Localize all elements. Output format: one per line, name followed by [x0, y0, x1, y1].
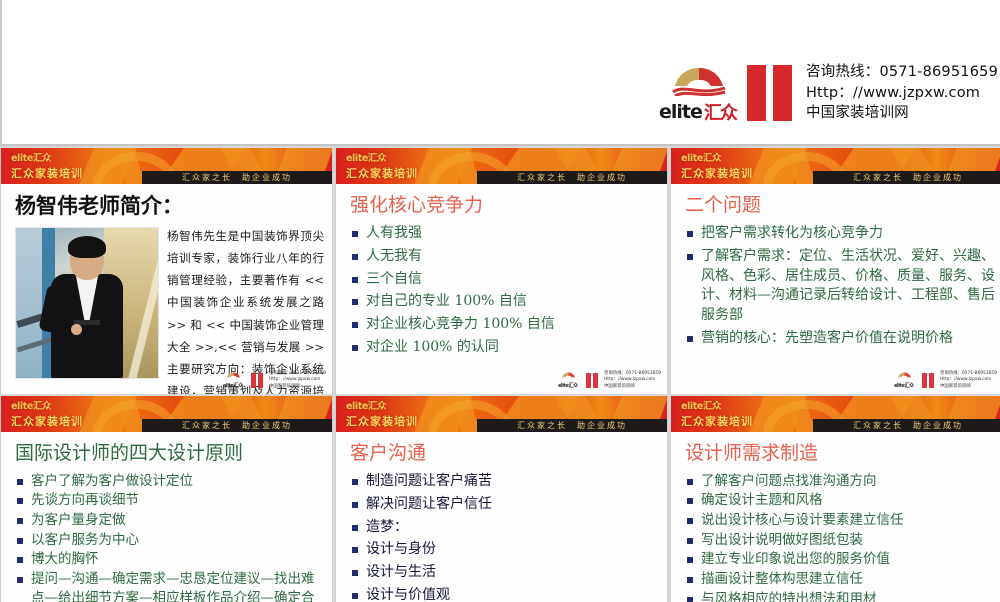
- bullet-item: 对企业 100% 的认同: [350, 338, 659, 358]
- footer-website: Http：//www.jzpxw.com: [940, 377, 997, 383]
- fan-wave-icon: [671, 66, 727, 96]
- elite-wordmark: elite 汇众: [659, 101, 743, 123]
- footer-fan-wave-icon: [226, 372, 241, 380]
- bullet-item: 了解客户问题点找准沟通方向: [685, 472, 995, 491]
- teacher-bio-text: 杨智伟先生是中国装饰界顶尖培训专家，装饰行业八年的行销管理经验，主要著作有 <<…: [167, 223, 324, 394]
- banner-slogan-left: 汇众家之长: [182, 172, 232, 183]
- bullet-item: 把客户需求转化为核心竞争力: [685, 224, 995, 244]
- red-bar-1: [747, 65, 766, 121]
- bullet-item: 了解客户需求：定位、生活状况、爱好、兴趣、风格、色彩、居住成员、价格、质量、服务…: [685, 247, 995, 327]
- banner-slogan-right: 助企业成功: [577, 172, 627, 183]
- contact-org: 中国家装培训网: [806, 103, 998, 124]
- slide-banner: elite汇众 汇众家装培训 汇众家之长 助企业成功: [671, 396, 1000, 432]
- banner-slogan: 汇众家之长 助企业成功: [813, 171, 1000, 184]
- banner-slogan-right: 助企业成功: [577, 420, 627, 431]
- bullet-item: 与风格相应的特出想法和用材: [685, 590, 995, 602]
- footer-wordmark: elite汇众: [558, 382, 578, 389]
- slide-body: 二个问题 把客户需求转化为核心竞争力 了解客户需求：定位、生活状况、爱好、兴趣、…: [671, 184, 1000, 394]
- bullet-item: 描画设计整体构思建立信任: [685, 570, 995, 589]
- footer-contact: 咨询热线：0571-86951659 Http：//www.jzpxw.com …: [940, 371, 997, 390]
- slide-title: 二个问题: [685, 194, 995, 217]
- banner-logo-cn: 汇众家装培训: [346, 413, 418, 429]
- banner-logo: elite汇众 汇众家装培训: [681, 398, 753, 429]
- bullet-item: 建立专业印象说出您的服务价值: [685, 550, 995, 569]
- footer-red-bars: [586, 373, 598, 388]
- footer-fan-wave-icon: [897, 372, 912, 380]
- contact-hotline: 咨询热线：0571-86951659: [806, 62, 998, 83]
- banner-slogan-left: 汇众家之长: [182, 420, 232, 431]
- teacher-portrait-photo: [15, 227, 159, 379]
- footer-fan-wave-icon: [561, 372, 576, 380]
- slide-footer-logo: elite汇众 咨询热线：0571-86951659 Http：//www.jz…: [894, 371, 997, 390]
- bullet-list: 了解客户问题点找准沟通方向 确定设计主题和风格 说出设计核心与设计要素建立信任 …: [685, 472, 995, 602]
- bullet-item: 三个自信: [350, 270, 659, 290]
- banner-logo-cn: 汇众家装培训: [11, 165, 83, 181]
- slide-banner: elite汇众 汇众家装培训 汇众家之长 助企业成功: [336, 148, 667, 184]
- contact-info: 咨询热线：0571-86951659 Http：//www.jzpxw.com …: [806, 62, 998, 124]
- slide-body: 杨智伟老师简介： 杨智伟先生是中国装饰界顶尖培训专家，装饰行业八年的行销管理经验…: [1, 184, 332, 394]
- footer-elite-icon: elite汇众: [558, 372, 580, 388]
- slide-banner: elite汇众 汇众家装培训 汇众家之长 助企业成功: [671, 148, 1000, 184]
- bullet-item: 人无我有: [350, 247, 659, 267]
- slide-core-competency[interactable]: elite汇众 汇众家装培训 汇众家之长 助企业成功 强化核心竞争力 人有我强 …: [335, 148, 668, 394]
- banner-slogan-right: 助企业成功: [242, 172, 292, 183]
- slide-body: 国际设计师的四大设计原则 客户了解为客户做设计定位 先谈方向再谈细节 为客户量身…: [1, 432, 332, 602]
- footer-wordmark: elite汇众: [223, 382, 243, 389]
- banner-slogan-left: 汇众家之长: [517, 420, 567, 431]
- contact-website: Http：//www.jzpxw.com: [806, 83, 998, 104]
- banner-slogan: 汇众家之长 助企业成功: [813, 419, 1000, 432]
- bullet-item: 制造问题让客户痛苦: [350, 472, 659, 492]
- banner-slogan-left: 汇众家之长: [853, 172, 903, 183]
- footer-website: Http：//www.jzpxw.com: [269, 377, 326, 383]
- banner-logo-cn: 汇众家装培训: [681, 413, 753, 429]
- banner-logo-en: elite汇众: [681, 398, 753, 412]
- banner-logo: elite汇众 汇众家装培训: [11, 398, 83, 429]
- banner-slogan-right: 助企业成功: [913, 172, 963, 183]
- slide-footer-logo: elite汇众 咨询热线：0571-86951659 Http：//www.jz…: [223, 371, 326, 390]
- bullet-list: 把客户需求转化为核心竞争力 了解客户需求：定位、生活状况、爱好、兴趣、风格、色彩…: [685, 224, 995, 349]
- bullet-list: 制造问题让客户痛苦 解决问题让客户信任 造梦： 设计与身份 设计与生活 设计与价…: [350, 472, 659, 602]
- footer-org: 中国家装培训网: [940, 384, 997, 390]
- banner-logo-en: elite汇众: [11, 398, 83, 412]
- elite-wordmark-en: elite: [659, 101, 702, 123]
- banner-slogan: 汇众家之长 助企业成功: [142, 419, 332, 432]
- slide-title: 客户沟通: [350, 442, 659, 465]
- footer-red-bars: [922, 373, 934, 388]
- banner-slogan: 汇众家之长 助企业成功: [142, 171, 332, 184]
- elite-wordmark-cn: 汇众: [704, 99, 736, 125]
- banner-logo-en: elite汇众: [11, 150, 83, 164]
- bullet-item: 设计与生活: [350, 563, 659, 583]
- footer-elite-icon: elite汇众: [223, 372, 245, 388]
- slide-designer-demand[interactable]: elite汇众 汇众家装培训 汇众家之长 助企业成功 设计师需求制造 了解客户问…: [670, 396, 1000, 602]
- slide-footer-logo: elite汇众 咨询热线：0571-86951659 Http：//www.jz…: [558, 371, 661, 390]
- red-bar-2: [773, 65, 792, 121]
- page-header: elite 汇众 咨询热线：0571-86951659 Http：//www.j…: [0, 0, 1000, 146]
- banner-slogan-right: 助企业成功: [913, 420, 963, 431]
- banner-logo-cn: 汇众家装培训: [11, 413, 83, 429]
- slide-body: 强化核心竞争力 人有我强 人无我有 三个自信 对自己的专业 100% 自信 对企…: [336, 184, 667, 394]
- banner-logo: elite汇众 汇众家装培训: [346, 150, 418, 181]
- bullet-item: 客户了解为客户做设计定位: [15, 472, 324, 491]
- slide-banner: elite汇众 汇众家装培训 汇众家之长 助企业成功: [336, 396, 667, 432]
- bullet-item: 人有我强: [350, 224, 659, 244]
- bullet-item: 提问—沟通—确定需求—忠恳定位建议—找出难点—给出细节方案—相应样板作品介绍—确…: [15, 570, 324, 602]
- footer-wordmark: elite汇众: [894, 382, 914, 389]
- banner-logo-en: elite汇众: [346, 150, 418, 164]
- banner-logo: elite汇众 汇众家装培训: [681, 150, 753, 181]
- bullet-item: 设计与身份: [350, 540, 659, 560]
- bullet-item: 确定设计主题和风格: [685, 491, 995, 510]
- bullet-item: 以客户服务为中心: [15, 531, 324, 550]
- banner-logo: elite汇众 汇众家装培训: [11, 150, 83, 181]
- banner-logo-en: elite汇众: [346, 398, 418, 412]
- banner-logo-cn: 汇众家装培训: [681, 165, 753, 181]
- banner-slogan-left: 汇众家之长: [853, 420, 903, 431]
- slide-banner: elite汇众 汇众家装培训 汇众家之长 助企业成功: [1, 396, 332, 432]
- slide-body: 客户沟通 制造问题让客户痛苦 解决问题让客户信任 造梦： 设计与身份 设计与生活…: [336, 432, 667, 602]
- slide-four-principles[interactable]: elite汇众 汇众家装培训 汇众家之长 助企业成功 国际设计师的四大设计原则 …: [0, 396, 333, 602]
- slide-body: 设计师需求制造 了解客户问题点找准沟通方向 确定设计主题和风格 说出设计核心与设…: [671, 432, 1000, 602]
- bullet-item: 博大的胸怀: [15, 550, 324, 569]
- slide-teacher-intro[interactable]: elite汇众 汇众家装培训 汇众家之长 助企业成功 杨智伟老师简介：: [0, 148, 333, 394]
- slide-two-questions[interactable]: elite汇众 汇众家装培训 汇众家之长 助企业成功 二个问题 把客户需求转化为…: [670, 148, 1000, 394]
- footer-org: 中国家装培训网: [604, 384, 661, 390]
- bullet-item: 写出设计说明做好图纸包装: [685, 531, 995, 550]
- bullet-item: 为客户量身定做: [15, 511, 324, 530]
- bullet-list: 人有我强 人无我有 三个自信 对自己的专业 100% 自信 对企业核心竞争力 1…: [350, 224, 659, 358]
- slide-grid: elite汇众 汇众家装培训 汇众家之长 助企业成功 杨智伟老师简介：: [0, 148, 1000, 600]
- footer-contact: 咨询热线：0571-86951659 Http：//www.jzpxw.com …: [604, 371, 661, 390]
- bullet-item: 营销的核心：先塑造客户价值在说明价格: [685, 329, 995, 349]
- slide-title: 强化核心竞争力: [350, 194, 659, 217]
- slide-title: 设计师需求制造: [685, 442, 995, 465]
- footer-website: Http：//www.jzpxw.com: [604, 377, 661, 383]
- slide-customer-communication[interactable]: elite汇众 汇众家装培训 汇众家之长 助企业成功 客户沟通 制造问题让客户痛…: [335, 396, 668, 602]
- presentation-handout-page: elite 汇众 咨询热线：0571-86951659 Http：//www.j…: [0, 0, 1000, 600]
- bullet-item: 先谈方向再谈细节: [15, 491, 324, 510]
- footer-contact: 咨询热线：0571-86951659 Http：//www.jzpxw.com …: [269, 371, 326, 390]
- slide-title: 国际设计师的四大设计原则: [15, 442, 324, 465]
- banner-slogan-left: 汇众家之长: [517, 172, 567, 183]
- bullet-list: 客户了解为客户做设计定位 先谈方向再谈细节 为客户量身定做 以客户服务为中心 博…: [15, 472, 324, 602]
- bullet-item: 解决问题让客户信任: [350, 495, 659, 515]
- footer-red-bars: [251, 373, 263, 388]
- footer-org: 中国家装培训网: [269, 384, 326, 390]
- bullet-item: 说出设计核心与设计要素建立信任: [685, 511, 995, 530]
- banner-slogan: 汇众家之长 助企业成功: [477, 171, 667, 184]
- banner-logo-en: elite汇众: [681, 150, 753, 164]
- footer-elite-icon: elite汇众: [894, 372, 916, 388]
- banner-slogan-right: 助企业成功: [242, 420, 292, 431]
- elite-logo-icon: elite 汇众: [657, 64, 743, 122]
- bullet-item: 对自己的专业 100% 自信: [350, 292, 659, 312]
- red-bars-decoration: [747, 65, 792, 121]
- slide-banner: elite汇众 汇众家装培训 汇众家之长 助企业成功: [1, 148, 332, 184]
- banner-slogan: 汇众家之长 助企业成功: [477, 419, 667, 432]
- bullet-item: 造梦：: [350, 518, 659, 538]
- brand-block: elite 汇众 咨询热线：0571-86951659 Http：//www.j…: [657, 62, 998, 124]
- bullet-item: 对企业核心竞争力 100% 自信: [350, 315, 659, 335]
- page-title: 杨智伟老师简介：: [15, 194, 324, 219]
- banner-logo-cn: 汇众家装培训: [346, 165, 418, 181]
- banner-logo: elite汇众 汇众家装培训: [346, 398, 418, 429]
